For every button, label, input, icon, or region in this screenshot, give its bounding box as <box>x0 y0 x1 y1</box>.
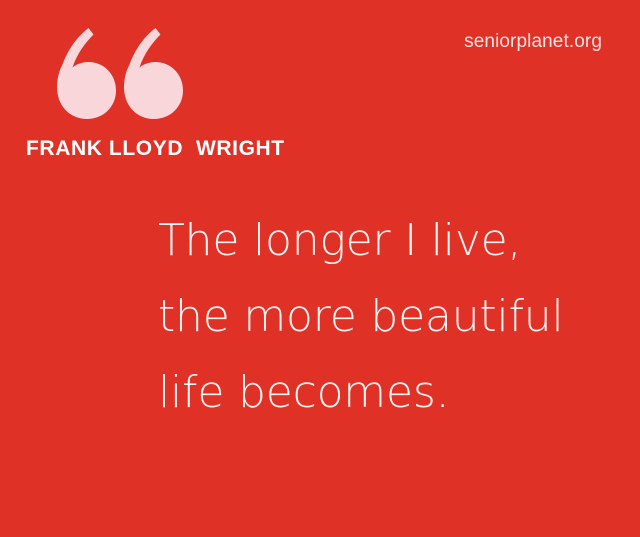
quote-attribution: FRANK LLOYD WRIGHT <box>26 138 285 159</box>
quote-line: The longer I live, <box>158 203 618 279</box>
quote-line: the more beautiful <box>158 279 618 355</box>
double-quote-open-icon <box>30 26 160 122</box>
quote-text: The longer I live, the more beautiful li… <box>158 203 618 431</box>
quote-card: seniorplanet.org FRANK LLOYD WRIGHT The … <box>0 0 640 537</box>
site-url: seniorplanet.org <box>464 32 602 51</box>
quote-line: life becomes. <box>158 355 618 431</box>
